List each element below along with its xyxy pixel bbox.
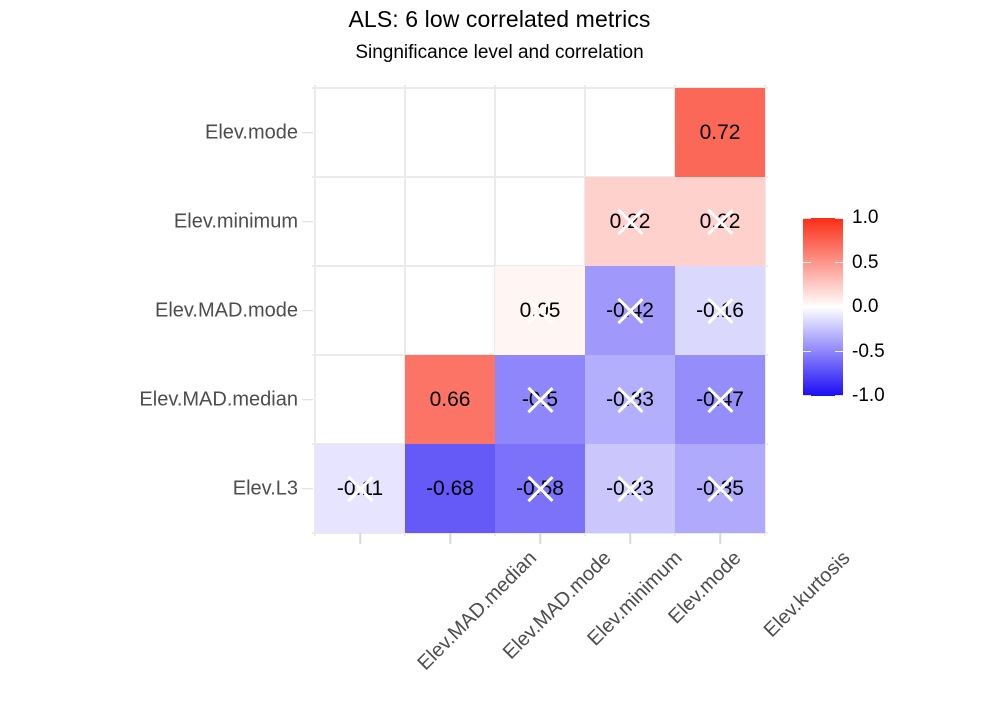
cell-value: 0.05	[520, 300, 561, 321]
cell-value: -0.33	[606, 389, 654, 410]
cell-value: 0.72	[700, 122, 741, 143]
x-axis-tick	[449, 533, 451, 544]
colorbar-legend[interactable]	[803, 218, 843, 396]
cell-value: -0.23	[606, 478, 654, 499]
x-axis-tick	[719, 533, 721, 544]
x-axis-label: Elev.kurtosis	[760, 547, 855, 642]
cell-value: -0.16	[696, 300, 744, 321]
cell-value: -0.42	[606, 300, 654, 321]
cell-value: 0.22	[610, 211, 651, 232]
colorbar-tick-label: 1.0	[852, 207, 878, 229]
cell-value: -0.68	[426, 478, 474, 499]
cell-value: -0.58	[516, 478, 564, 499]
colorbar-gradient	[803, 218, 843, 396]
cell-value: -0.35	[696, 478, 744, 499]
cell-value: -0.11	[337, 478, 383, 499]
colorbar-tick-label: -0.5	[852, 341, 885, 363]
cell-value: 0.66	[430, 389, 471, 410]
cell-value: -0.5	[522, 389, 558, 410]
x-axis-tick	[539, 533, 541, 544]
x-axis-tick	[359, 533, 361, 544]
x-axis-tick	[629, 533, 631, 544]
cell-value: 0.22	[700, 211, 741, 232]
colorbar-tick-label: 0.5	[852, 252, 878, 274]
x-axis: Elev.MAD.medianElev.MAD.modeElev.minimum…	[0, 0, 999, 714]
correlation-heatmap-figure: ALS: 6 low correlated metrics Singnifica…	[0, 0, 999, 714]
cell-value: -0.47	[696, 389, 744, 410]
colorbar-tick-label: 0.0	[852, 296, 878, 318]
colorbar-tick-label: -1.0	[852, 385, 885, 407]
